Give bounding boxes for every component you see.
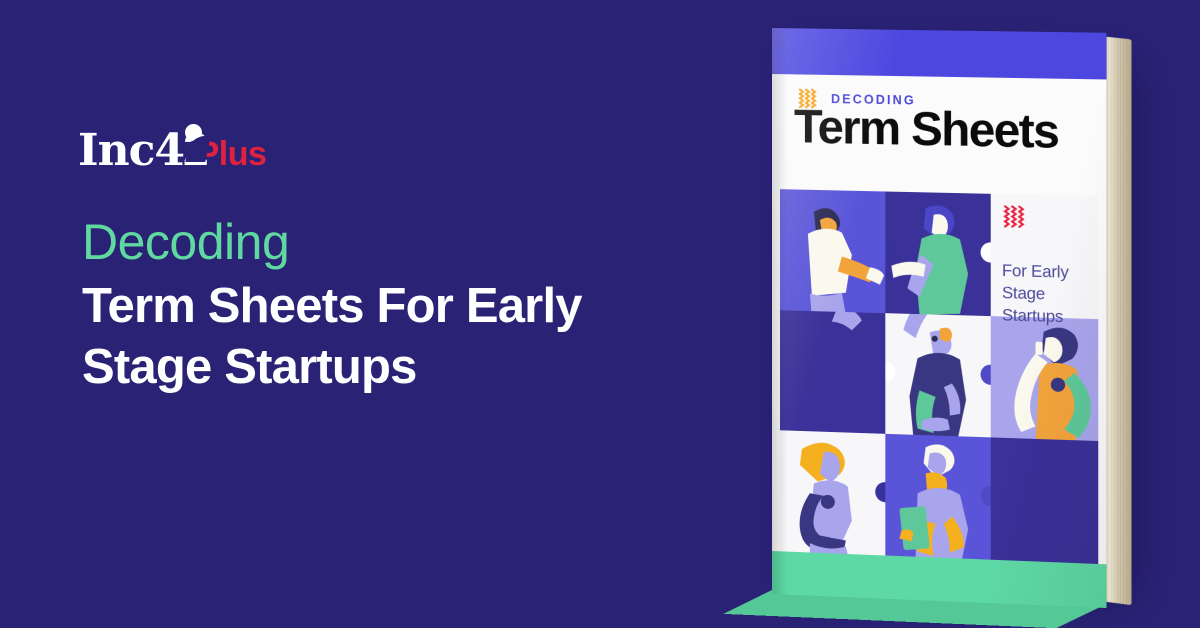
grid-cell-blank-dark (991, 438, 1098, 564)
logo-42-mark: 2 (183, 126, 206, 172)
grid-cell-person-phone (991, 316, 1098, 442)
illustration-person-reading (885, 434, 991, 560)
book-page-edge (1104, 37, 1131, 606)
grid-cell-handshake-right (885, 191, 991, 315)
cover-subtitle-line-1: For Early (1002, 261, 1096, 285)
grid-cell-blank-indigo (780, 310, 885, 434)
grid-cell-handshake-left (780, 189, 885, 313)
cover-subtitle-column: For Early Stage Startups (1002, 203, 1096, 329)
cover-header: DECODING Term Sheets (772, 74, 1107, 196)
inc42-plus-logo: Inc4 2 Plus (78, 126, 266, 173)
grid-cell-person-tablet (885, 313, 991, 438)
illustration-person-seated (780, 431, 885, 556)
cover-title: Term Sheets (794, 102, 1058, 154)
illustration-hand-overlap (780, 310, 885, 434)
cover-top-band (772, 28, 1107, 79)
cover-subtitle-line-2: Stage (1002, 283, 1096, 308)
grid-cell-person-reading (885, 434, 991, 560)
book-mockup-stage: DECODING Term Sheets For Early Stage Sta… (740, 0, 1200, 628)
headline-title-line-2: Stage Startups (82, 337, 662, 398)
book-front-cover: DECODING Term Sheets For Early Stage Sta… (772, 28, 1107, 608)
zigzag-squiggle-red-icon (1002, 203, 1024, 230)
left-content-panel: Inc4 2 Plus Decoding Term Sheets For Ear… (0, 0, 700, 628)
illustration-woman-right (885, 191, 991, 315)
headline-title-line-1: Term Sheets For Early (82, 276, 662, 337)
logo-inc-text: Inc4 (78, 129, 184, 173)
illustration-person-center (885, 313, 991, 438)
illustration-person-phone (991, 316, 1098, 442)
ebook-cover-3d: DECODING Term Sheets For Early Stage Sta… (772, 28, 1107, 608)
headline-eyebrow: Decoding (82, 216, 662, 269)
grid-cell-person-seated (780, 431, 885, 556)
cover-subtitle-line-3: Startups (1002, 305, 1096, 330)
headline-block: Decoding Term Sheets For Early Stage Sta… (82, 216, 662, 398)
illustration-businessman-left (780, 189, 885, 313)
headline-title: Term Sheets For Early Stage Startups (82, 276, 662, 398)
